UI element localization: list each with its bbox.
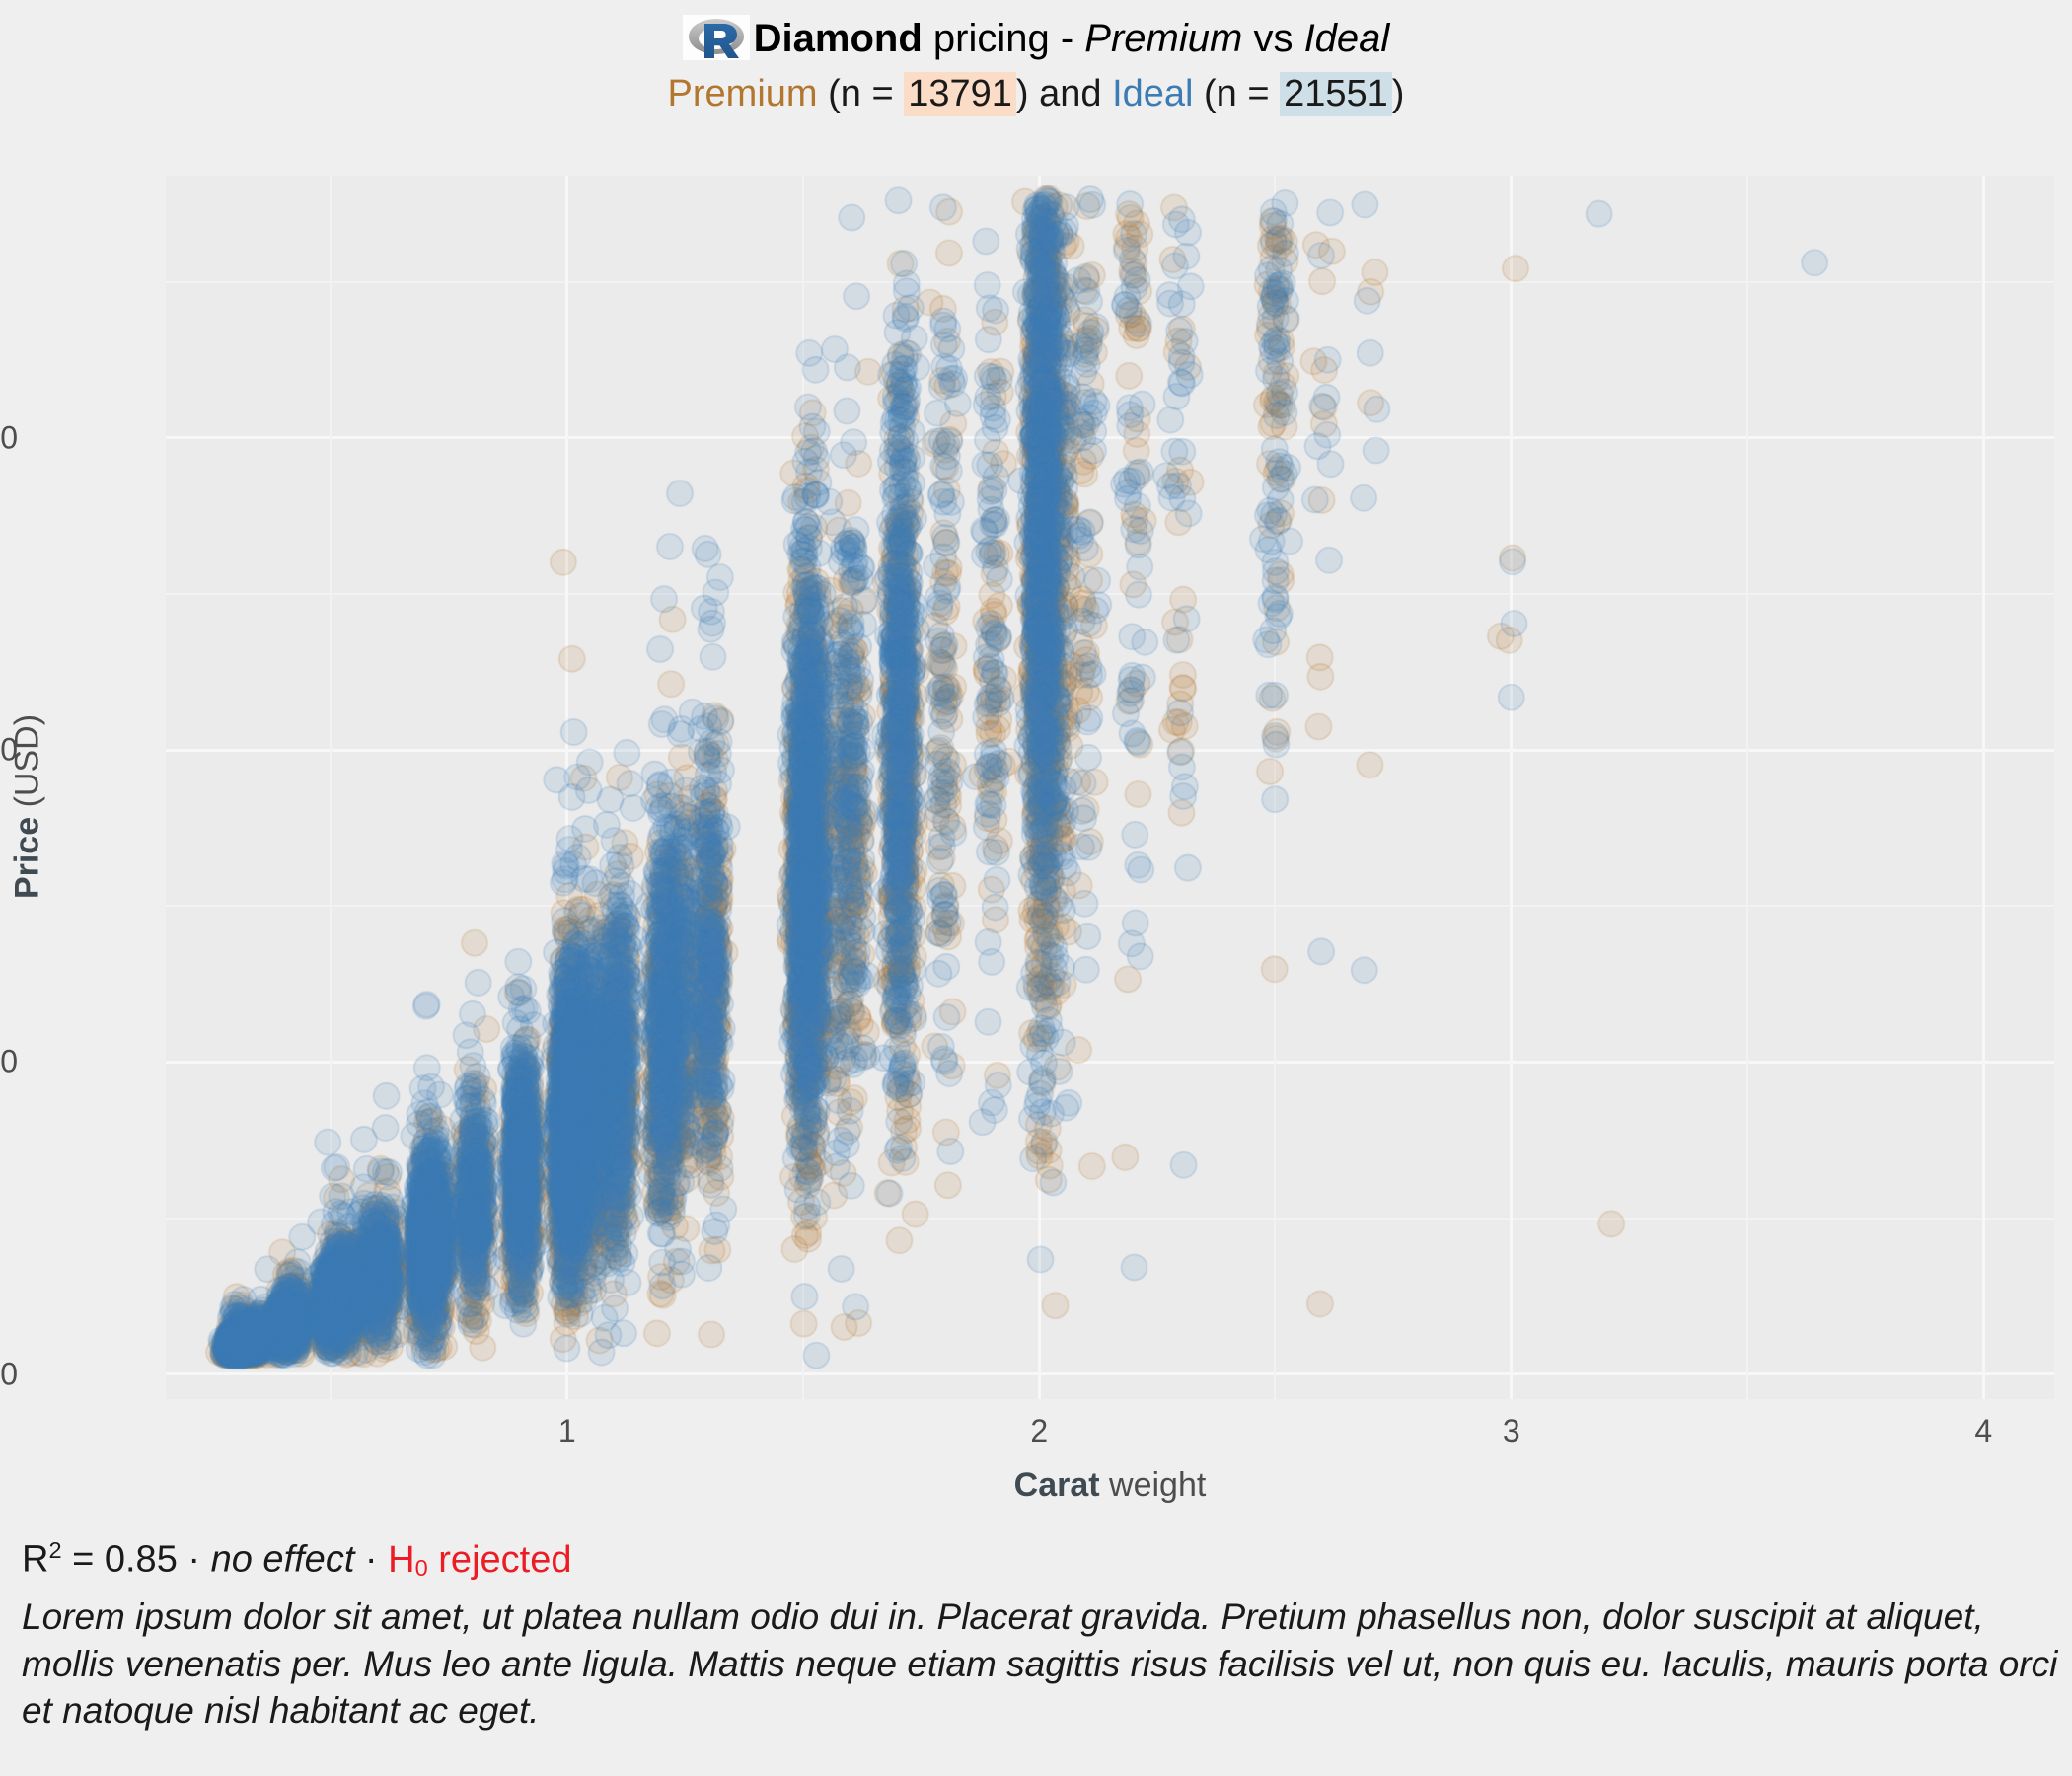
subtitle-ideal-prefix: (n = <box>1193 73 1280 114</box>
title-italic-premium: Premium <box>1084 17 1242 60</box>
r-language-logo-icon <box>683 15 750 60</box>
stat-separator: · <box>354 1539 388 1581</box>
effect-text: no effect <box>211 1539 355 1581</box>
caption-block: R2 = 0.85 · no effect · H0 rejected Lore… <box>22 1537 2064 1735</box>
h-subscript: 0 <box>415 1555 428 1581</box>
subtitle-group-premium: Premium <box>668 73 818 114</box>
y-axis-tick-label: 0 <box>0 1356 18 1392</box>
y-axis-label-unit: (USD) <box>9 714 46 817</box>
r-squared-value: = 0.85 · <box>62 1539 211 1581</box>
x-axis-tick-label: 4 <box>1904 1413 2062 1449</box>
subtitle-premium-suffix: ) and <box>1016 73 1112 114</box>
page-subtitle: Premium (n = 13791) and Ideal (n = 21551… <box>0 70 2072 118</box>
x-axis-tick-label: 1 <box>488 1413 646 1449</box>
y-axis-label: Price (USD) <box>9 462 47 1152</box>
title-block: Diamond pricing - Premium vs Ideal Premi… <box>0 14 2072 119</box>
subtitle-ideal-count: 21551 <box>1280 72 1392 116</box>
x-axis-label: Carat weight <box>166 1466 2054 1505</box>
plot-panel <box>166 176 2054 1399</box>
h-rest: rejected <box>428 1539 572 1581</box>
scatter-points-layer <box>166 176 2054 1399</box>
subtitle-premium-count: 13791 <box>904 72 1016 116</box>
x-axis-tick-label: 2 <box>960 1413 1118 1449</box>
x-axis-label-rest: weight <box>1100 1466 1207 1504</box>
statistics-line: R2 = 0.85 · no effect · H0 rejected <box>22 1537 2064 1582</box>
h-label: H <box>388 1539 414 1581</box>
x-axis-label-bold: Carat <box>1014 1466 1100 1504</box>
title-italic-ideal: Ideal <box>1304 17 1390 60</box>
y-axis-label-bold: Price <box>9 817 46 899</box>
chart-page: Diamond pricing - Premium vs Ideal Premi… <box>0 0 2072 1776</box>
x-axis-tick-label: 3 <box>1433 1413 1591 1449</box>
hypothesis-result: H0 rejected <box>388 1539 571 1581</box>
subtitle-group-ideal: Ideal <box>1112 73 1193 114</box>
title-bold: Diamond <box>754 17 923 60</box>
page-title: Diamond pricing - Premium vs Ideal <box>0 14 2072 64</box>
r-squared-exponent: 2 <box>48 1537 61 1563</box>
r-squared-label: R <box>22 1539 48 1581</box>
title-plain: pricing - <box>923 17 1085 60</box>
y-axis-tick-label: 15000 <box>0 419 18 456</box>
subtitle-premium-prefix: (n = <box>818 73 905 114</box>
title-plain-2: vs <box>1242 17 1303 60</box>
subtitle-ideal-suffix: ) <box>1392 73 1405 114</box>
caption-paragraph: Lorem ipsum dolor sit amet, ut platea nu… <box>22 1593 2064 1734</box>
